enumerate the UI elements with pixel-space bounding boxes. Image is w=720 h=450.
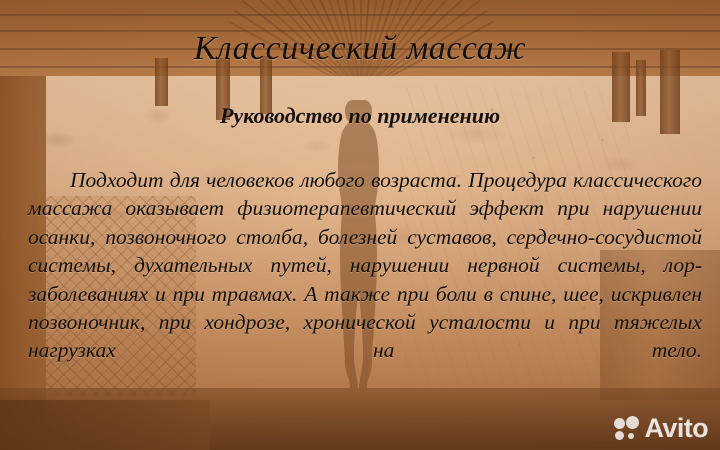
avito-dots-icon	[614, 416, 640, 442]
poster-text: Классический массаж Руководство по приме…	[0, 0, 720, 450]
poster-body-text: Подходит для человеков любого возраста. …	[28, 166, 702, 393]
avito-brand-label: Avito	[645, 415, 709, 442]
massage-poster: Классический массаж Руководство по приме…	[0, 0, 720, 450]
page-subtitle: Руководство по применению	[0, 103, 720, 129]
avito-watermark: Avito	[614, 415, 709, 442]
page-title: Классический массаж	[0, 30, 720, 68]
